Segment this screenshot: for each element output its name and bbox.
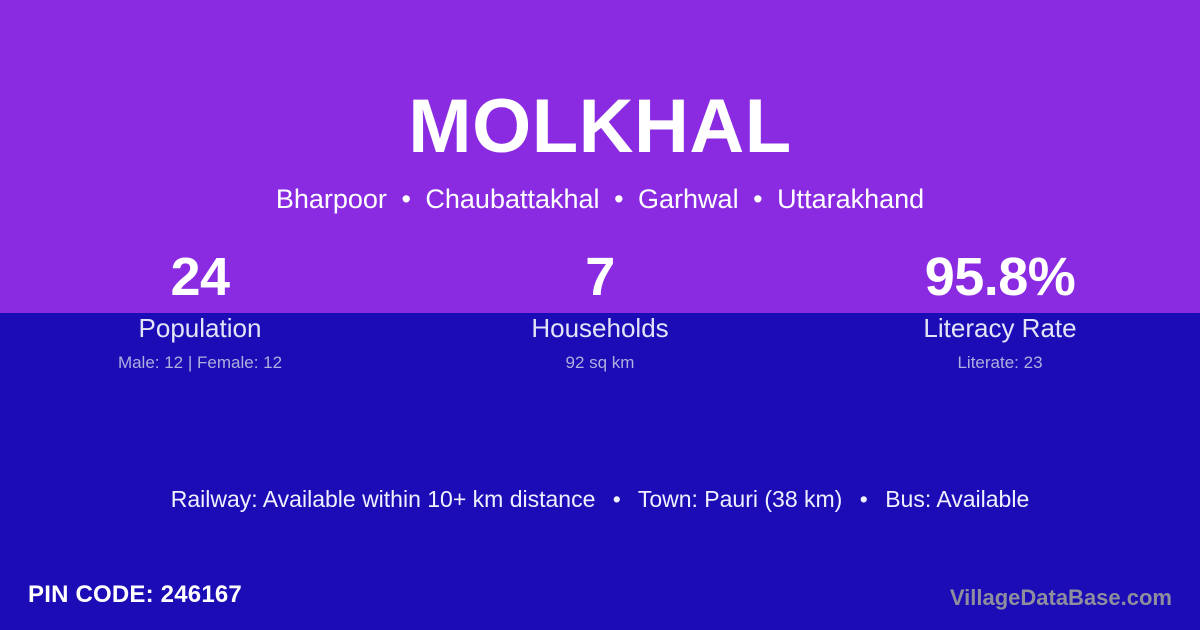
breadcrumb-separator: •: [394, 184, 417, 214]
stat-households-sub: 92 sq km: [400, 352, 800, 374]
breadcrumb-separator: •: [746, 184, 769, 214]
amenity-separator: •: [602, 486, 632, 512]
page-title: MOLKHAL: [0, 84, 1200, 170]
stats-row: 24 Population Male: 12 | Female: 12 7 Ho…: [0, 246, 1200, 374]
pin-code: PIN CODE: 246167: [28, 580, 242, 610]
footer: PIN CODE: 246167 VillageDataBase.com: [0, 568, 1200, 630]
stat-literacy-rate: 95.8% Literacy Rate Literate: 23: [800, 246, 1200, 374]
stat-households-value: 7: [400, 246, 800, 308]
amenity-railway: Railway: Available within 10+ km distanc…: [171, 486, 596, 512]
amenity-bus: Bus: Available: [885, 486, 1029, 512]
brand-watermark: VillageDataBase.com: [950, 584, 1172, 612]
breadcrumb-item-village: Bharpoor: [276, 184, 387, 214]
breadcrumb-item-block: Chaubattakhal: [425, 184, 599, 214]
breadcrumb-item-state: Uttarakhand: [777, 184, 924, 214]
stat-households: 7 Households 92 sq km: [400, 246, 800, 374]
breadcrumb-separator: •: [607, 184, 630, 214]
amenity-town: Town: Pauri (38 km): [638, 486, 843, 512]
stat-literacy-rate-label: Literacy Rate: [800, 312, 1200, 344]
amenities-line: Railway: Available within 10+ km distanc…: [0, 484, 1200, 514]
stat-population: 24 Population Male: 12 | Female: 12: [0, 246, 400, 374]
stat-population-sub: Male: 12 | Female: 12: [0, 352, 400, 374]
stat-literacy-rate-value: 95.8%: [800, 246, 1200, 308]
stat-population-label: Population: [0, 312, 400, 344]
breadcrumb: Bharpoor • Chaubattakhal • Garhwal • Utt…: [0, 182, 1200, 216]
stat-population-value: 24: [0, 246, 400, 308]
breadcrumb-item-district: Garhwal: [638, 184, 739, 214]
stat-households-label: Households: [400, 312, 800, 344]
village-info-card: MOLKHAL Bharpoor • Chaubattakhal • Garhw…: [0, 0, 1200, 630]
amenity-separator: •: [849, 486, 879, 512]
stat-literacy-rate-sub: Literate: 23: [800, 352, 1200, 374]
